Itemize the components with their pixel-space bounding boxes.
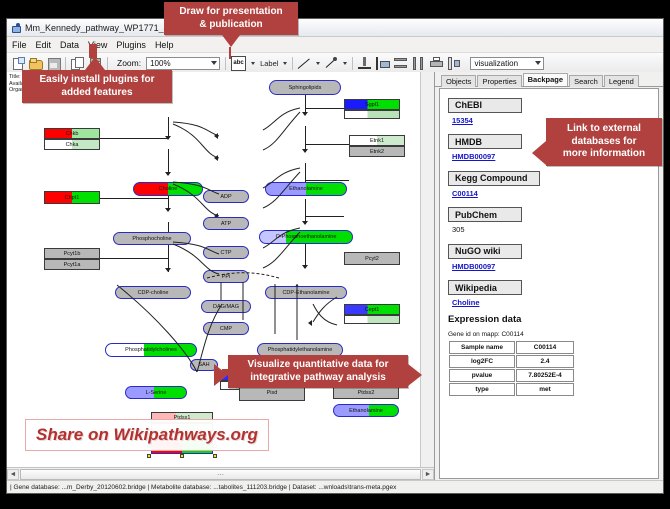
db-link-kegg-compound[interactable]: C00114 xyxy=(452,189,658,198)
selection-handle[interactable] xyxy=(147,454,151,458)
db-header-kegg-compound: Kegg Compound xyxy=(448,171,540,186)
node-label: CDP-choline xyxy=(138,290,169,296)
callout-line: & publication xyxy=(172,19,290,32)
chevron-down-icon[interactable] xyxy=(251,62,255,65)
node-label: Ethanolamine xyxy=(349,408,383,414)
node-label: Chkb xyxy=(66,131,79,137)
db-link-nugo-wiki[interactable]: HMDB00097 xyxy=(452,262,658,271)
toolbar-separator xyxy=(225,57,226,70)
callout-line: Easily install plugins for xyxy=(30,74,164,87)
table-cell-key: pvalue xyxy=(449,369,515,382)
menu-item-data[interactable]: Data xyxy=(60,40,79,50)
scrollbar-thumb[interactable]: ⋯ xyxy=(20,469,421,480)
node-label: Sgpl1 xyxy=(365,102,379,108)
callout-install-plugins: Easily install plugins for added feature… xyxy=(22,70,172,103)
open-icon[interactable] xyxy=(29,57,42,70)
tab-objects[interactable]: Objects xyxy=(441,75,476,88)
node-label: L-Serine xyxy=(146,390,167,396)
db-header-wikipedia: Wikipedia xyxy=(448,280,522,295)
connector-icon[interactable] xyxy=(325,57,338,70)
expression-table: Sample name C00114 log2FC 2.4 pvalue 7.8… xyxy=(448,340,575,397)
text-icon[interactable]: abc xyxy=(231,56,246,71)
table-cell-value: 2.4 xyxy=(516,355,574,368)
canvas-horizontal-scrollbar[interactable]: ◄ ⋯ ► xyxy=(7,467,434,481)
node-label: ADP xyxy=(220,194,231,200)
node-label: Pcyt2 xyxy=(365,256,379,262)
callout-line: Draw for presentation xyxy=(172,6,290,19)
expression-data-heading: Expression data xyxy=(448,314,658,325)
screenshot-root: Mm_Kennedy_pathway_WP1771_45176.gpml Fil… xyxy=(0,0,670,509)
chevron-down-icon[interactable] xyxy=(316,62,320,65)
visualization-combobox[interactable]: visualization xyxy=(470,57,544,70)
callout-line: Visualize quantitative data for xyxy=(236,359,400,372)
node-label: Chpt1 xyxy=(65,195,80,201)
chevron-down-icon[interactable] xyxy=(343,62,347,65)
table-cell-value: met xyxy=(516,383,574,396)
table-row: pvalue 7.80252E-4 xyxy=(449,369,574,382)
table-row: Sample name C00114 xyxy=(449,341,574,354)
node-label: SAH xyxy=(198,362,209,368)
node-label: CMP xyxy=(220,326,232,332)
node-label: PPi xyxy=(222,274,231,280)
tab-properties[interactable]: Properties xyxy=(477,75,521,88)
callout-arrow-right-icon xyxy=(408,364,422,386)
node-label: Sphingolipids xyxy=(289,85,322,91)
toolbar-separator xyxy=(107,57,108,70)
callout-line: integrative pathway analysis xyxy=(236,372,400,385)
callout-stem xyxy=(89,44,97,58)
distribute-horizontal-icon[interactable] xyxy=(412,57,425,70)
line-icon[interactable] xyxy=(298,57,311,70)
node-label: CTP xyxy=(221,250,232,256)
align-left-icon[interactable] xyxy=(376,57,389,70)
node-label: O-Phosphoethanolamine xyxy=(276,234,337,240)
stack-vertical-icon[interactable] xyxy=(394,57,407,70)
visualization-value: visualization xyxy=(474,59,518,68)
tab-legend[interactable]: Legend xyxy=(604,75,639,88)
pathway-canvas[interactable]: Title: Availa Organi xyxy=(7,72,434,467)
chevron-down-icon xyxy=(535,61,541,65)
node-label: Phosphatidylcholines xyxy=(125,347,177,353)
toolbar-separator xyxy=(352,57,353,70)
new-icon[interactable] xyxy=(11,57,24,70)
tab-backpage[interactable]: Backpage xyxy=(523,73,568,87)
node-label: ATP xyxy=(221,221,231,227)
toolbar-separator xyxy=(65,57,66,70)
table-cell-value: C00114 xyxy=(516,341,574,354)
title-bar: Mm_Kennedy_pathway_WP1771_45176.gpml xyxy=(7,19,663,37)
menu-item-file[interactable]: File xyxy=(12,40,27,50)
callout-stem xyxy=(400,369,410,375)
toolbar-separator xyxy=(292,57,293,70)
table-cell-key: type xyxy=(449,383,515,396)
node-label: Choline xyxy=(159,186,178,192)
align-bottom-icon[interactable] xyxy=(358,57,371,70)
node-label: Ethanolamine xyxy=(289,186,323,192)
table-cell-value: 7.80252E-4 xyxy=(516,369,574,382)
print-icon[interactable] xyxy=(430,57,443,70)
node-label: Phosphatidylethanolamine xyxy=(268,347,333,353)
db-header-pubchem: PubChem xyxy=(448,207,522,222)
table-row: type met xyxy=(449,383,574,396)
label-tool-label[interactable]: Label xyxy=(260,59,278,68)
callout-arrow-up-icon xyxy=(85,57,105,70)
group-icon[interactable] xyxy=(448,57,461,70)
table-cell-key: Sample name xyxy=(449,341,515,354)
menu-item-edit[interactable]: Edit xyxy=(36,40,52,50)
zoom-value: 100% xyxy=(150,59,170,68)
save-icon[interactable] xyxy=(47,57,60,70)
node-label: Phosphocholine xyxy=(132,236,171,242)
callout-stem xyxy=(229,47,231,59)
callout-line: databases for xyxy=(552,136,656,149)
copy-icon[interactable] xyxy=(71,57,84,70)
callout-stem xyxy=(222,369,230,375)
selection-handle[interactable] xyxy=(180,454,184,458)
gene-id-line: Gene id on mapp: C00114 xyxy=(448,331,658,338)
menu-item-plugins[interactable]: Plugins xyxy=(116,40,146,50)
table-row: log2FC 2.4 xyxy=(449,355,574,368)
db-header-hmdb: HMDB xyxy=(448,134,522,149)
node-label: Pcyt1b xyxy=(64,251,81,257)
status-bar-text: | Gene database: ...m_Derby_20120602.bri… xyxy=(10,484,396,491)
callout-line: added features xyxy=(30,87,164,100)
table-cell-key: log2FC xyxy=(449,355,515,368)
status-bar: | Gene database: ...m_Derby_20120602.bri… xyxy=(7,480,663,493)
share-text: Share on Wikipathways.org xyxy=(36,425,258,444)
node-label: Pcyt1a xyxy=(64,262,81,268)
callout-visualize-data: Visualize quantitative data for integrat… xyxy=(228,355,408,388)
node-label: Etnk1 xyxy=(370,138,384,144)
selection-handle[interactable] xyxy=(213,454,217,458)
callout-share-wikipathways: Share on Wikipathways.org xyxy=(25,419,269,451)
scroll-left-icon[interactable]: ◄ xyxy=(7,469,19,480)
db-link-wikipedia[interactable]: Choline xyxy=(452,298,658,307)
callout-stem xyxy=(541,146,549,152)
node-label: Ptdss2 xyxy=(358,390,375,396)
chevron-down-icon[interactable] xyxy=(283,62,287,65)
db-header-nugo-wiki: NuGO wiki xyxy=(448,244,522,259)
callout-line: more information xyxy=(552,148,656,161)
tab-search[interactable]: Search xyxy=(569,75,603,88)
node-label: DAG/MAG xyxy=(213,304,239,310)
scroll-right-icon[interactable]: ► xyxy=(422,469,434,480)
zoom-combobox[interactable]: 100% xyxy=(146,57,220,70)
chevron-down-icon xyxy=(211,61,217,65)
callout-draw-for-publication: Draw for presentation & publication xyxy=(164,2,298,35)
node-label: Chka xyxy=(66,142,79,148)
callout-arrow-down-icon xyxy=(222,35,240,47)
db-value-pubchem: 305 xyxy=(452,225,658,234)
callout-line: Link to external xyxy=(552,123,656,136)
callout-link-databases: Link to external databases for more info… xyxy=(546,118,662,166)
node-label: Etnk2 xyxy=(370,149,384,155)
callout-arrow-left-pointer-icon xyxy=(214,364,228,386)
menu-item-help[interactable]: Help xyxy=(155,40,174,50)
node-label: Cept1 xyxy=(365,307,380,313)
app-icon xyxy=(11,23,21,33)
db-header-chebi: ChEBI xyxy=(448,98,522,113)
callout-arrow-left-icon xyxy=(532,141,546,165)
node-label: Pisd xyxy=(267,390,278,396)
node-label: CDP-Ethanolamine xyxy=(282,290,329,296)
menu-bar: File Edit Data View Plugins Help xyxy=(7,37,663,53)
zoom-label: Zoom: xyxy=(117,58,141,68)
sidebar-tabs: Objects Properties Backpage Search Legen… xyxy=(435,72,663,87)
